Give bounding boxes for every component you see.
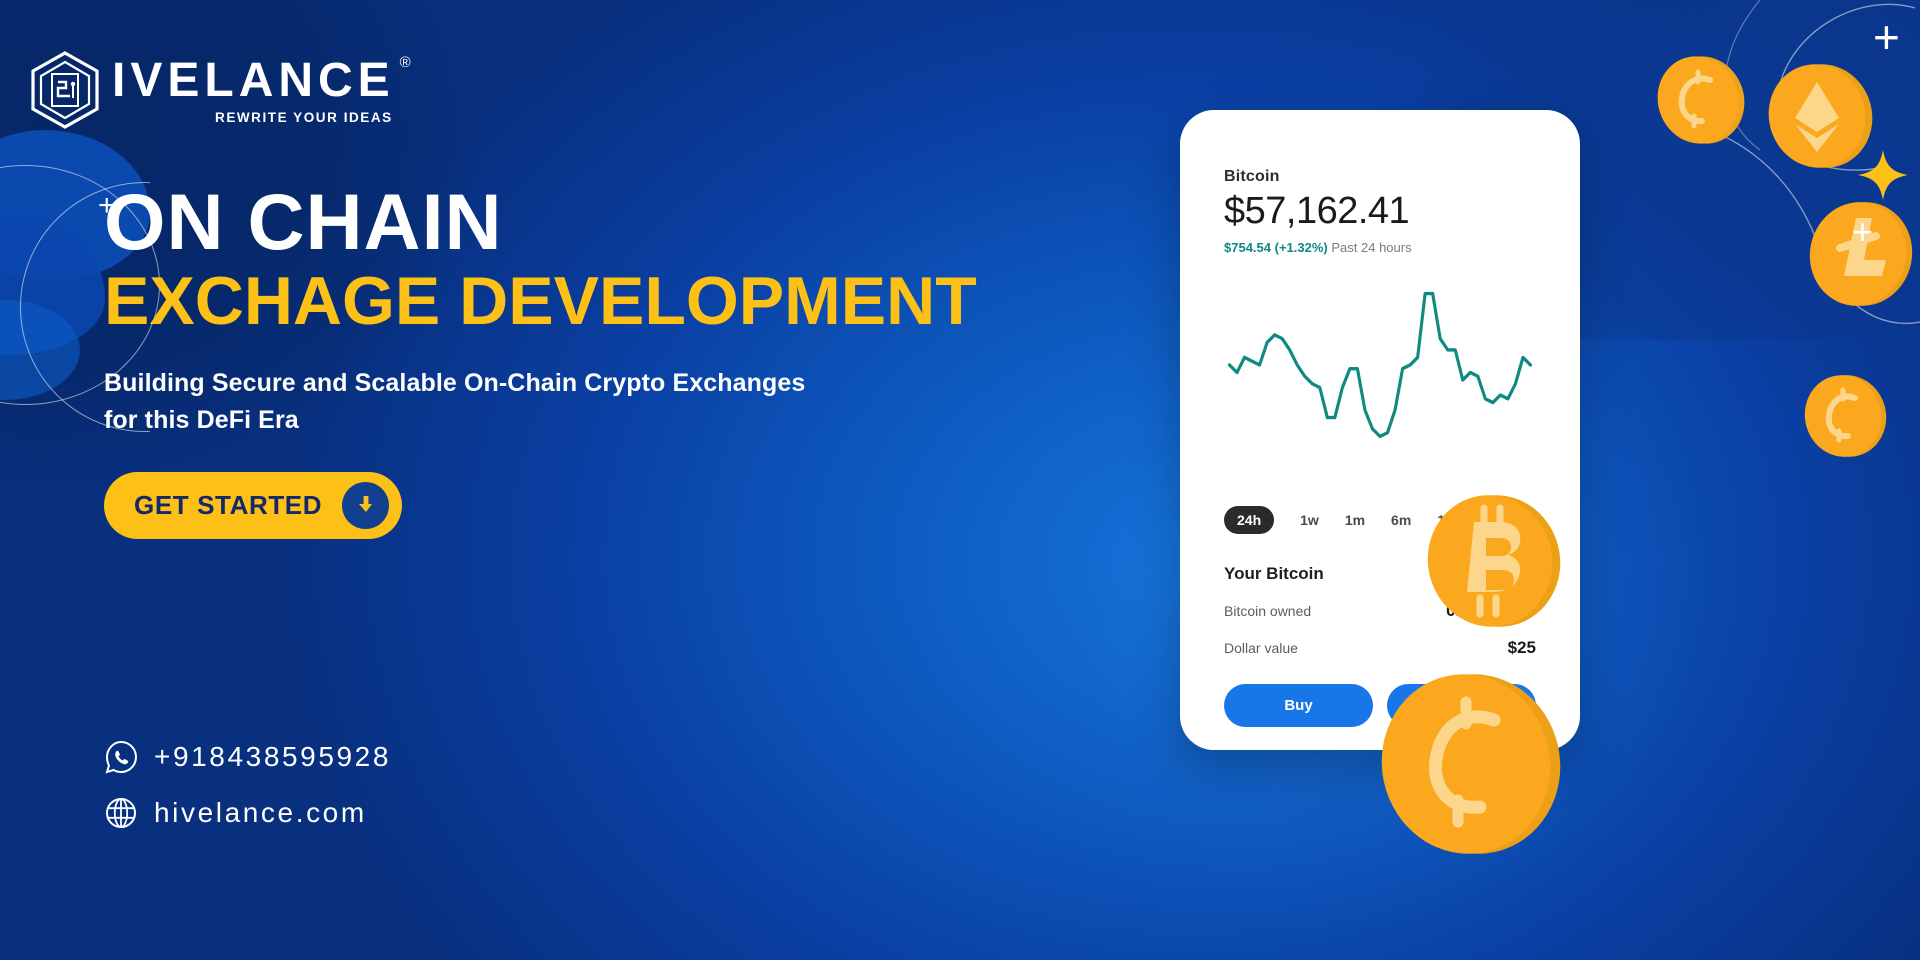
holdings-value-dollar: $25: [1508, 638, 1536, 658]
promo-banner: IVELANCE ® REWRITE YOUR IDEAS + ON CHAIN…: [0, 0, 1920, 960]
get-started-label: GET STARTED: [134, 490, 322, 521]
holdings-row-owned: Bitcoin owned 0.00043735: [1224, 601, 1536, 621]
subtitle-line-1: Building Secure and Scalable On-Chain Cr…: [104, 365, 1104, 402]
contact-phone-text: +918438595928: [154, 741, 391, 773]
swirl-ribbon-c: [0, 300, 80, 400]
contact-block: +918438595928 hivelance.com: [104, 740, 391, 852]
headline-line-2: EXCHAGE DEVELOPMENT: [104, 267, 1104, 335]
contact-website[interactable]: hivelance.com: [104, 796, 391, 830]
range-chip-1y[interactable]: 1y: [1437, 512, 1453, 528]
change-percent: (+1.32%): [1275, 240, 1328, 255]
holdings-value-owned: 0.00043735: [1446, 601, 1536, 621]
coin-c-small-icon: [1798, 370, 1890, 462]
plus-top-right-icon: +: [1873, 14, 1900, 60]
phone-mockup: Bitcoin $57,162.41 $754.54 (+1.32%) Past…: [1180, 110, 1580, 750]
hexagon-chip-logo-icon: [28, 50, 102, 130]
time-range-selector[interactable]: 24h 1w 1m 6m 1y: [1224, 506, 1536, 534]
brand-logo[interactable]: IVELANCE ® REWRITE YOUR IDEAS: [28, 50, 395, 130]
coin-name-label: Bitcoin: [1224, 168, 1536, 186]
crypto-app-screen: Bitcoin $57,162.41 $754.54 (+1.32%) Past…: [1198, 128, 1562, 750]
holdings-label-dollar: Dollar value: [1224, 640, 1298, 656]
phone-whatsapp-icon: [104, 740, 138, 774]
coin-price-value: $57,162.41: [1224, 192, 1536, 232]
holdings-label-owned: Bitcoin owned: [1224, 603, 1311, 619]
change-period: Past 24 hours: [1331, 240, 1411, 255]
globe-icon: [104, 796, 138, 830]
range-chip-6m[interactable]: 6m: [1391, 512, 1411, 528]
plus-mid-right-icon: +: [1852, 214, 1873, 250]
swirl-ribbon-b: [0, 215, 105, 355]
holdings-row-dollar: Dollar value $25: [1224, 638, 1536, 658]
subtitle-line-2: for this DeFi Era: [104, 402, 1104, 439]
coin-ethereum-icon: [1760, 58, 1876, 174]
logo-wordmark: IVELANCE: [112, 57, 395, 105]
trade-actions: Buy Sell: [1224, 684, 1536, 727]
coin-change-row: $754.54 (+1.32%) Past 24 hours: [1224, 241, 1536, 254]
contact-phone[interactable]: +918438595928: [104, 740, 391, 774]
sell-button[interactable]: Sell: [1387, 684, 1536, 727]
registered-mark: ®: [400, 55, 411, 70]
coin-litecoin-icon: [1800, 196, 1916, 312]
change-value: $754.54: [1224, 240, 1271, 255]
sparkle-icon: [1856, 148, 1910, 202]
range-chip-1w[interactable]: 1w: [1300, 512, 1319, 528]
price-chart: [1224, 280, 1536, 480]
buy-button[interactable]: Buy: [1224, 684, 1373, 727]
logo-tagline: REWRITE YOUR IDEAS: [112, 110, 395, 125]
headline-line-1: ON CHAIN: [104, 186, 1104, 259]
get-started-button[interactable]: GET STARTED: [104, 472, 402, 539]
range-chip-1m[interactable]: 1m: [1345, 512, 1365, 528]
coin-c-icon: [1652, 52, 1748, 148]
contact-website-text: hivelance.com: [154, 797, 367, 829]
hero-copy: + ON CHAIN EXCHAGE DEVELOPMENT Building …: [104, 186, 1104, 539]
holdings-title: Your Bitcoin: [1224, 564, 1536, 584]
range-chip-24h[interactable]: 24h: [1224, 506, 1274, 534]
arrow-down-icon: [342, 482, 389, 529]
